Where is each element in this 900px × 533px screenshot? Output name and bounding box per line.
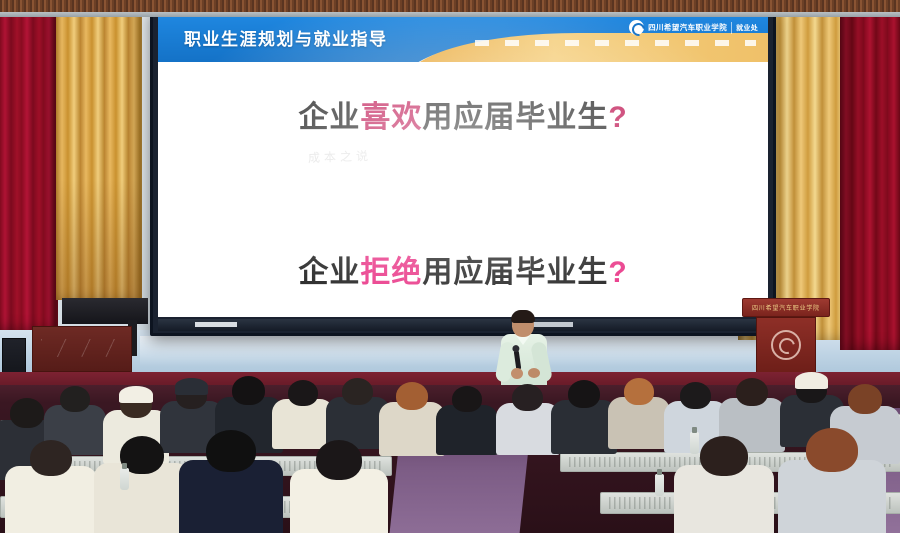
line2-highlight: 拒绝 (360, 256, 422, 289)
department-label: 就业处 (736, 23, 758, 33)
audience-member-cap (175, 378, 208, 395)
ceiling-edge-trim (0, 12, 900, 17)
line1-prefix: 企业 (298, 101, 360, 134)
podium-body (756, 317, 816, 375)
audience-member-cap (795, 372, 828, 389)
presentation-slide: 职业生涯规划与就业指导 四川希望汽车职业学院 就业处 企业喜欢用应届毕业生? 成… (158, 16, 768, 317)
audience-member-body (436, 405, 498, 455)
audience-member-head (568, 380, 600, 408)
water-bottle (690, 432, 699, 454)
slide-line-1: 企业喜欢用应届毕业生? (158, 92, 768, 136)
podium-top: 四川希望汽车职业学院 (742, 298, 830, 317)
audience-member-head (288, 380, 318, 406)
audience-member-head (512, 384, 543, 411)
header-gold-highlights (475, 40, 756, 46)
line2-suffix: 用应届毕业生 (422, 256, 608, 289)
cabinet-panel-detail (41, 339, 123, 357)
audience-member-body (608, 397, 670, 449)
audience-member-head (680, 382, 711, 409)
audience-member-head (316, 440, 362, 480)
screen-bottom-rail (158, 319, 768, 331)
water-bottle (655, 474, 664, 496)
slide-line-2: 企业拒绝用应届毕业生? (158, 247, 768, 291)
slide-header-banner: 职业生涯规划与就业指导 四川希望汽车职业学院 就业处 (158, 16, 768, 62)
audience-member-cap (119, 386, 153, 403)
audience-member-head (342, 378, 373, 405)
logo-divider (731, 22, 732, 34)
podium-spiral-emblem-icon (771, 330, 801, 360)
slide-body: 企业喜欢用应届毕业生? 成本之说 企业拒绝用应届毕业生? (158, 62, 768, 317)
audience-member-head (452, 386, 482, 412)
school-name-label: 四川希望汽车职业学院 (648, 22, 727, 33)
curtain-left-red (0, 0, 58, 330)
spiral-logo-icon (629, 20, 644, 35)
school-logo: 四川希望汽车职业学院 就业处 (629, 20, 758, 35)
audience-member-head (806, 428, 858, 472)
line2-prefix: 企业 (298, 256, 360, 289)
presenter-left-hand (511, 368, 523, 379)
audience-member-head (736, 378, 768, 406)
line1-suffix: 用应届毕业生 (422, 101, 608, 134)
audience-member-head (206, 430, 256, 472)
line2-question-mark: ? (608, 256, 627, 289)
wooden-console-cabinet (32, 326, 132, 372)
curtain-right-red (840, 0, 900, 350)
audience-member-head (30, 440, 72, 476)
curtain-left-gold (56, 0, 142, 300)
audience-member-head (848, 384, 882, 414)
audience-member-head (624, 378, 654, 405)
slide-title: 职业生涯规划与就业指导 (184, 25, 388, 50)
audience-member-body (272, 399, 334, 449)
slide-watermark: 成本之说 (308, 147, 373, 166)
audience-member-body (496, 403, 560, 455)
audience-member-head (10, 398, 44, 428)
water-bottle (120, 468, 129, 490)
audience-member-head (232, 376, 265, 405)
stage-floor-reflection (140, 336, 780, 366)
line1-highlight: 喜欢 (360, 101, 422, 134)
lecture-hall-photo: 职业生涯规划与就业指导 四川希望汽车职业学院 就业处 企业喜欢用应届毕业生? 成… (0, 0, 900, 533)
audience-member-head (60, 386, 90, 412)
projection-screen: 职业生涯规划与就业指导 四川希望汽车职业学院 就业处 企业喜欢用应届毕业生? 成… (158, 16, 768, 317)
presenter-right-hand (528, 368, 540, 378)
line1-question-mark: ? (608, 101, 627, 134)
podium-nameplate: 四川希望汽车职业学院 (743, 303, 829, 312)
projection-screen-bezel: 职业生涯规划与就业指导 四川希望汽车职业学院 就业处 企业喜欢用应届毕业生? 成… (150, 8, 776, 336)
audience-member-head (396, 382, 428, 410)
audience-member-head (700, 436, 748, 476)
presenter-hair (511, 310, 535, 323)
